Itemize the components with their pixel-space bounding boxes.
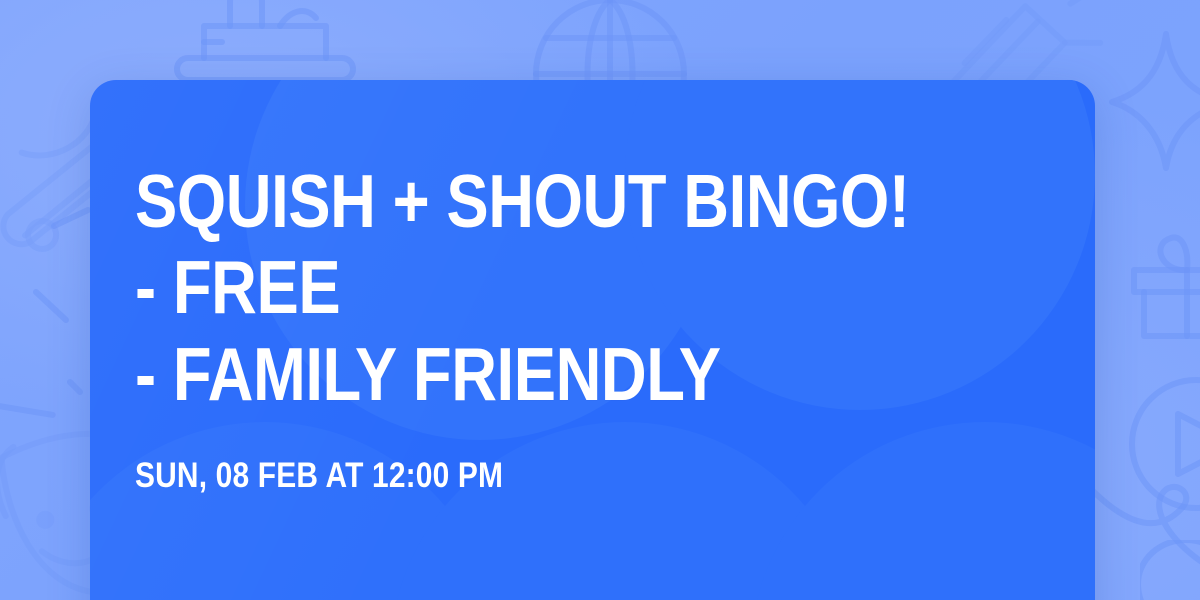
balloon-icon (1140, 540, 1200, 600)
event-banner: SQUISH + SHOUT BINGO! - FREE - FAMILY FR… (0, 0, 1200, 600)
card-content: SQUISH + SHOUT BINGO! - FREE - FAMILY FR… (135, 158, 1055, 495)
event-card[interactable]: SQUISH + SHOUT BINGO! - FREE - FAMILY FR… (90, 80, 1095, 600)
sparkle-icon (1108, 24, 1200, 174)
event-datetime: SUN, 08 FEB AT 12:00 PM (135, 457, 922, 496)
event-title: SQUISH + SHOUT BINGO! - FREE - FAMILY FR… (135, 158, 912, 417)
gift-icon (1128, 218, 1200, 348)
